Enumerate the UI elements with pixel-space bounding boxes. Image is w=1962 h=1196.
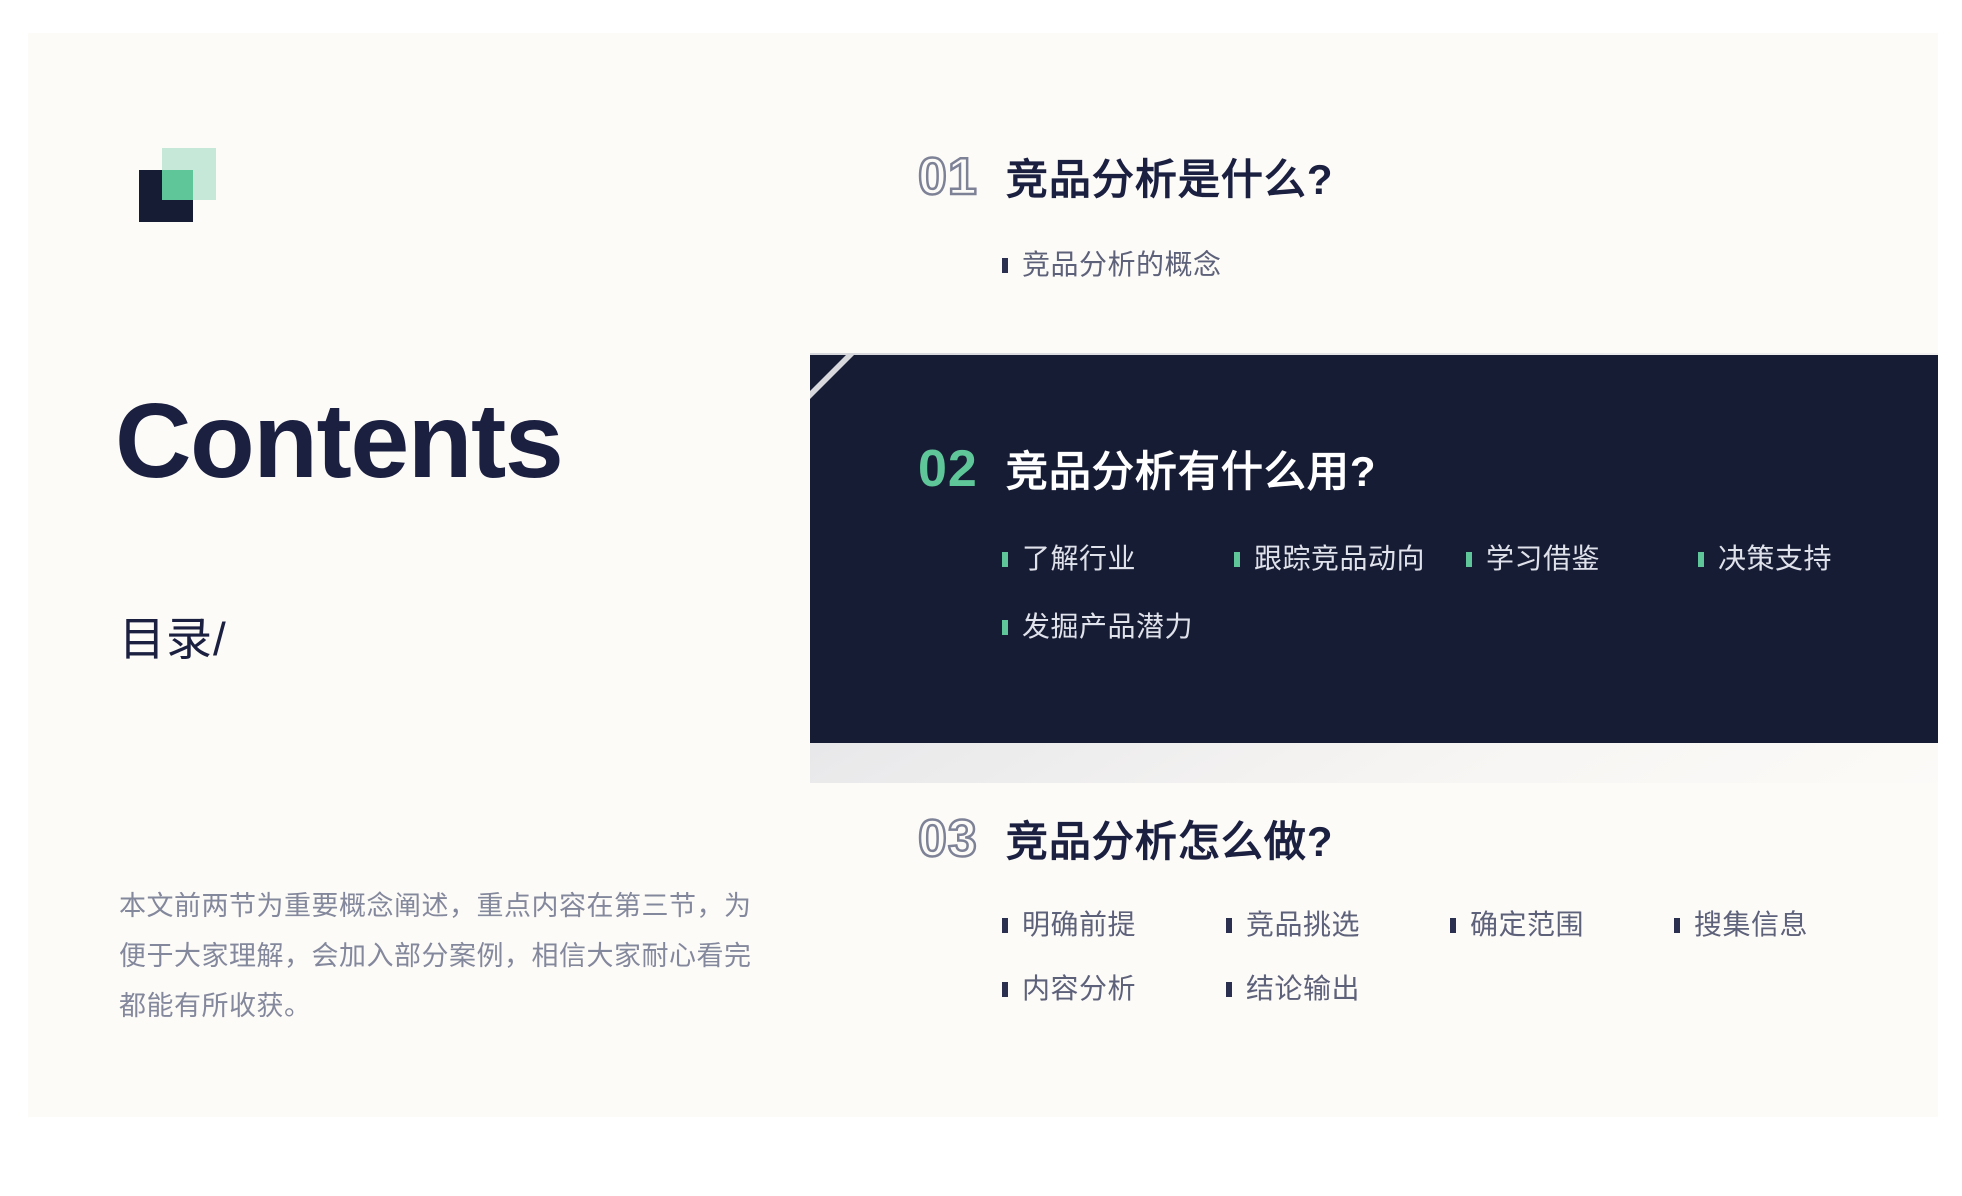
section-03-header: 03 竞品分析怎么做?: [918, 813, 1938, 865]
page-title: Contents: [115, 388, 562, 494]
bullet-marker-icon: [1002, 552, 1008, 567]
bullet-marker-icon: [1002, 620, 1008, 635]
list-item-label: 决策支持: [1718, 545, 1832, 573]
list-item[interactable]: 学习借鉴: [1466, 545, 1698, 573]
list-item[interactable]: 竞品分析的概念: [1002, 251, 1222, 279]
section-03-number: 03: [918, 813, 978, 865]
section-03-title: 竞品分析怎么做?: [1006, 821, 1334, 863]
list-item[interactable]: 决策支持: [1698, 545, 1930, 573]
bullet-marker-icon: [1234, 552, 1240, 567]
section-02-header: 02 竞品分析有什么用?: [918, 443, 1938, 495]
list-item-label: 确定范围: [1470, 911, 1584, 939]
bullet-marker-icon: [1002, 918, 1008, 933]
section-03[interactable]: 03 竞品分析怎么做? 明确前提 竞品挑选 确定范围 搜集信息 内容分析: [918, 813, 1938, 1039]
intro-paragraph: 本文前两节为重要概念阐述，重点内容在第三节，为便于大家理解，会加入部分案例，相信…: [119, 881, 759, 1031]
list-item[interactable]: 竞品挑选: [1226, 911, 1450, 939]
slide-canvas: Contents 目录/ 本文前两节为重要概念阐述，重点内容在第三节，为便于大家…: [28, 33, 1938, 1117]
bullet-marker-icon: [1698, 552, 1704, 567]
section-03-bullets: 明确前提 竞品挑选 确定范围 搜集信息 内容分析 结论输出: [1002, 911, 1938, 1039]
list-item-label: 结论输出: [1246, 975, 1360, 1003]
section-01-bullets: 竞品分析的概念: [1002, 251, 1334, 279]
list-item-label: 学习借鉴: [1486, 545, 1600, 573]
list-item-label: 搜集信息: [1694, 911, 1808, 939]
bullet-marker-icon: [1674, 918, 1680, 933]
section-02-bullets: 了解行业 跟踪竞品动向 学习借鉴 决策支持 发掘产品潜力: [1002, 545, 1938, 681]
list-item-label: 发掘产品潜力: [1022, 613, 1193, 641]
section-01-title: 竞品分析是什么?: [1006, 159, 1334, 201]
page-subtitle: 目录/: [119, 616, 227, 662]
list-item[interactable]: 发掘产品潜力: [1002, 613, 1234, 641]
section-02-title: 竞品分析有什么用?: [1006, 451, 1377, 493]
bullet-marker-icon: [1002, 258, 1008, 273]
section-01[interactable]: 01 竞品分析是什么? 竞品分析的概念: [918, 151, 1334, 279]
list-item[interactable]: 确定范围: [1450, 911, 1674, 939]
list-item[interactable]: 内容分析: [1002, 975, 1226, 1003]
list-item-label: 竞品分析的概念: [1022, 251, 1222, 279]
bullet-marker-icon: [1226, 982, 1232, 997]
section-01-number: 01: [918, 151, 978, 203]
section-02[interactable]: 02 竞品分析有什么用? 了解行业 跟踪竞品动向 学习借鉴 决策支持 发: [918, 443, 1938, 681]
list-item-label: 了解行业: [1022, 545, 1136, 573]
section-01-header: 01 竞品分析是什么?: [918, 151, 1334, 203]
bullet-marker-icon: [1466, 552, 1472, 567]
list-item-label: 内容分析: [1022, 975, 1136, 1003]
list-item[interactable]: 结论输出: [1226, 975, 1450, 1003]
list-item[interactable]: 明确前提: [1002, 911, 1226, 939]
bullet-marker-icon: [1450, 918, 1456, 933]
list-item[interactable]: 搜集信息: [1674, 911, 1898, 939]
list-item[interactable]: 跟踪竞品动向: [1234, 545, 1466, 573]
list-item-label: 竞品挑选: [1246, 911, 1360, 939]
list-item[interactable]: 了解行业: [1002, 545, 1234, 573]
section-02-number: 02: [918, 443, 978, 495]
left-column: Contents 目录/ 本文前两节为重要概念阐述，重点内容在第三节，为便于大家…: [110, 33, 810, 1117]
list-item-label: 跟踪竞品动向: [1254, 545, 1425, 573]
bullet-marker-icon: [1226, 918, 1232, 933]
bullet-marker-icon: [1002, 982, 1008, 997]
list-item-label: 明确前提: [1022, 911, 1136, 939]
